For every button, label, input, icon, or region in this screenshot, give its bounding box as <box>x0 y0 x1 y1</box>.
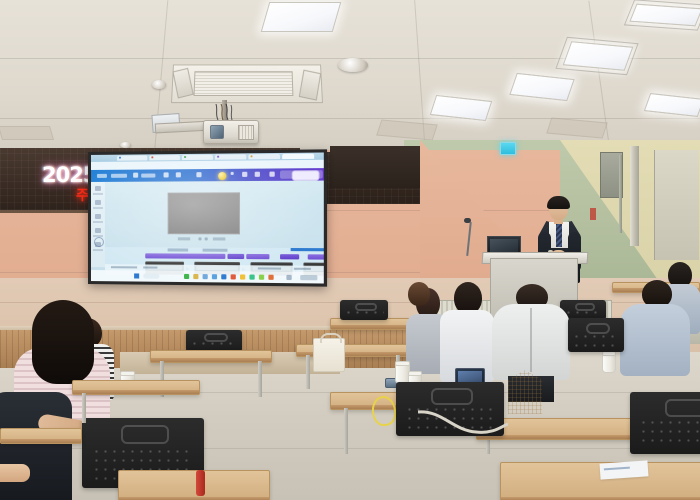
playback-controls <box>178 237 230 241</box>
ceiling-tile <box>376 119 438 140</box>
browser-tab[interactable] <box>182 155 213 160</box>
white-tote-bag <box>313 338 345 372</box>
attendee-center-white <box>440 282 494 382</box>
timeline-clip[interactable] <box>145 253 225 259</box>
desk-leg <box>82 393 86 423</box>
presenter-necktie <box>556 223 562 247</box>
browser-tab-active[interactable] <box>282 154 314 160</box>
timeline-clip[interactable] <box>308 254 324 260</box>
ceiling-projector <box>203 120 259 144</box>
browser-tab[interactable] <box>215 154 246 159</box>
attendee-hand <box>0 464 30 482</box>
ceiling-light <box>644 93 700 117</box>
tab-favicon <box>250 155 252 157</box>
chair <box>186 330 242 352</box>
status-text-right <box>258 267 281 269</box>
desk-edge <box>1 439 81 443</box>
handout-paper <box>600 460 649 479</box>
cup-lid <box>408 371 422 376</box>
chair-handle <box>121 425 169 444</box>
taskbar-app-icon[interactable] <box>184 274 189 279</box>
chair <box>630 392 700 454</box>
seminar-room-photo: 2025 주 수 <box>0 0 700 500</box>
attendee-head <box>408 282 430 306</box>
audio-icon[interactable] <box>95 200 101 205</box>
taskbar-app-icon[interactable] <box>268 275 273 280</box>
chair-perforations <box>190 339 237 349</box>
fire-extinguisher <box>196 470 205 496</box>
cup-lid <box>395 361 410 366</box>
taskbar-app-icon[interactable] <box>240 274 245 279</box>
timecode-total <box>213 237 225 240</box>
desk-leg <box>344 408 348 454</box>
pause-icon[interactable] <box>205 237 208 240</box>
projection-screen <box>91 152 324 283</box>
chair <box>568 318 624 352</box>
timeline-clip[interactable] <box>246 254 269 259</box>
timeline-clip[interactable] <box>280 254 299 259</box>
chair-perforations <box>572 332 619 348</box>
floor-cable <box>418 408 508 444</box>
taskbar-app-icon[interactable] <box>231 274 236 279</box>
tab-favicon <box>184 156 186 158</box>
dark-wall-recess <box>330 146 420 188</box>
taskbar-app-icon[interactable] <box>259 275 264 280</box>
ac-grill <box>193 71 294 96</box>
presenter-hair <box>547 196 570 209</box>
desk <box>0 428 82 444</box>
chair-perforations <box>344 308 384 317</box>
cloud-icon[interactable] <box>196 172 201 177</box>
taskbar-app-icon[interactable] <box>212 274 217 279</box>
toolbar-menu-item[interactable] <box>97 174 107 178</box>
editor-toolbar <box>91 168 324 182</box>
tab-favicon <box>151 156 153 158</box>
attendee-shirt-crease <box>530 308 532 372</box>
timeline-playhead-track <box>291 248 324 251</box>
ceiling-light-rim <box>624 0 700 31</box>
add-media-button[interactable] <box>94 237 104 247</box>
rail-label <box>93 207 103 209</box>
chair <box>340 300 388 320</box>
pencil-icon[interactable] <box>133 173 138 178</box>
ceiling-tile <box>546 117 608 138</box>
chevron-down-icon[interactable] <box>231 172 234 175</box>
paper-cup <box>602 352 616 373</box>
ceiling-light-rim <box>555 37 638 75</box>
download-icon[interactable] <box>242 172 247 177</box>
taskbar-app-icon[interactable] <box>221 274 226 279</box>
desk <box>118 470 270 500</box>
ceiling-air-conditioner <box>171 64 323 103</box>
toolbar-menu-item[interactable] <box>141 173 155 177</box>
attendee-right-blue-shirt <box>620 280 690 392</box>
ceiling-light <box>261 2 342 32</box>
browser-tab[interactable] <box>117 155 147 160</box>
fullscreen-icon[interactable] <box>269 172 274 177</box>
projection-screen-frame <box>88 149 327 286</box>
tab-favicon <box>119 157 121 159</box>
wall-pipe <box>630 146 639 246</box>
ceiling-light <box>509 73 574 101</box>
sticker-icon[interactable] <box>95 228 101 233</box>
desk <box>72 380 200 395</box>
projector-cables <box>212 104 238 120</box>
export-button[interactable] <box>292 170 320 181</box>
play-icon[interactable] <box>198 237 201 240</box>
desk-edge <box>151 358 271 362</box>
corner-wall-column <box>654 150 699 260</box>
timeline-track-label <box>168 248 189 251</box>
ceiling-tile <box>0 126 54 140</box>
smoke-detector <box>338 58 368 72</box>
browser-tab[interactable] <box>248 154 280 159</box>
video-preview[interactable] <box>168 192 240 234</box>
windows-taskbar <box>91 270 324 283</box>
status-text-right <box>294 268 311 270</box>
timeline-clip[interactable] <box>227 254 244 259</box>
taskbar-app-icon[interactable] <box>203 274 208 279</box>
taskbar-app-icon[interactable] <box>249 275 254 280</box>
redo-icon[interactable] <box>176 172 181 177</box>
desk-leg <box>258 361 262 397</box>
chair-handle <box>431 388 474 405</box>
zoom-level-text <box>143 266 157 268</box>
taskbar-clock[interactable] <box>300 275 317 280</box>
fire-extinguisher-sign <box>590 208 596 220</box>
status-text <box>111 266 137 268</box>
timecode-current <box>178 237 190 240</box>
paper-text-line <box>604 467 630 471</box>
microphone-head <box>464 218 471 223</box>
editor-side-rail <box>91 182 105 267</box>
tab-favicon <box>217 156 219 158</box>
taskbar-search[interactable] <box>143 274 159 279</box>
toolbar-menu-item[interactable] <box>111 174 127 178</box>
attendee-mid-blue <box>404 282 434 342</box>
browser-tab[interactable] <box>149 155 180 160</box>
chair-perforations <box>639 418 700 447</box>
timeline-track-label <box>203 249 228 252</box>
attendee-hair <box>32 300 94 384</box>
media-icon[interactable] <box>95 186 101 191</box>
rail-label <box>93 221 103 223</box>
settings-icon[interactable] <box>255 172 260 177</box>
chair-handle <box>665 399 700 417</box>
desk-edge <box>73 390 199 394</box>
start-button[interactable] <box>134 273 139 278</box>
rail-label <box>93 249 103 251</box>
emergency-exit-sign <box>500 142 516 155</box>
avatar-icon[interactable] <box>218 171 226 179</box>
rail-label <box>93 193 103 195</box>
attendee-torso <box>0 392 72 500</box>
taskbar-tray-icon[interactable] <box>286 275 291 280</box>
desk-leg <box>306 355 310 389</box>
cup-lid <box>120 371 135 376</box>
speaker-pole <box>619 155 622 233</box>
led-korean-text: 주 <box>76 185 89 205</box>
projector-lens <box>210 125 224 139</box>
desk <box>150 350 272 363</box>
text-icon[interactable] <box>95 214 101 219</box>
projector-vent <box>238 125 254 140</box>
bag-handle <box>320 333 342 343</box>
taskbar-app-icon[interactable] <box>193 274 198 279</box>
smoke-detector <box>152 80 166 89</box>
attendee-torso <box>620 304 690 376</box>
undo-icon[interactable] <box>164 172 169 177</box>
